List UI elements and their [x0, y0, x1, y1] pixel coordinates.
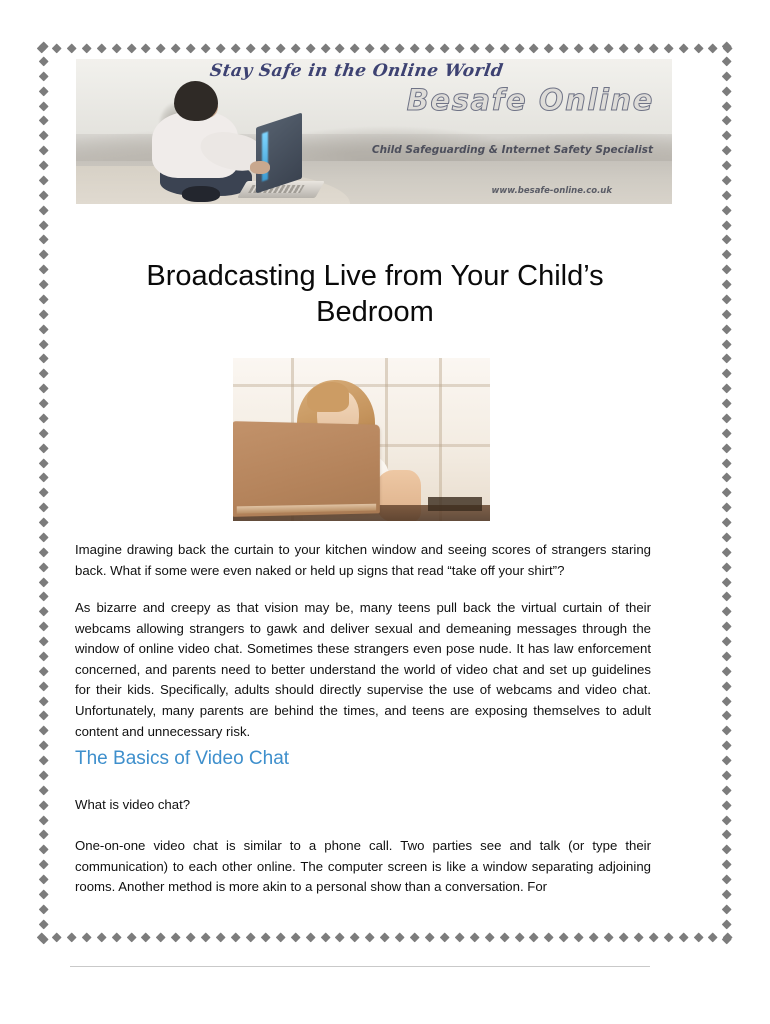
border-diamond: [38, 532, 48, 542]
border-diamond: [126, 932, 136, 942]
border-diamond: [721, 190, 731, 200]
photo-window-mullion: [233, 384, 490, 387]
border-diamond: [721, 220, 731, 230]
photo-laptop: [233, 421, 380, 517]
border-diamond: [141, 43, 151, 53]
border-diamond: [721, 101, 731, 111]
border-diamond: [410, 43, 420, 53]
border-diamond: [38, 71, 48, 81]
border-diamond: [66, 43, 76, 53]
border-diamond: [38, 56, 48, 66]
border-diamond: [721, 324, 731, 334]
border-diamond: [721, 785, 731, 795]
border-diamond: [38, 205, 48, 215]
border-diamond: [38, 354, 48, 364]
border-diamond: [721, 919, 731, 929]
border-diamond: [186, 932, 196, 942]
border-diamond: [395, 43, 405, 53]
border-diamond: [721, 309, 731, 319]
border-diamond: [216, 932, 226, 942]
border-row-bottom: [38, 932, 732, 943]
border-diamond: [245, 932, 255, 942]
border-diamond: [721, 503, 731, 513]
border-diamond: [38, 860, 48, 870]
border-diamond: [439, 43, 449, 53]
border-diamond: [721, 547, 731, 557]
border-diamond: [320, 43, 330, 53]
border-diamond: [721, 800, 731, 810]
border-diamond: [380, 43, 390, 53]
border-diamond: [38, 636, 48, 646]
border-diamond: [618, 932, 628, 942]
border-col-left: [38, 43, 49, 943]
border-diamond: [38, 160, 48, 170]
header-banner-image: Stay Safe in the Online World Besafe Onl…: [76, 59, 672, 204]
border-diamond: [589, 43, 599, 53]
border-diamond: [721, 607, 731, 617]
border-diamond: [290, 932, 300, 942]
border-diamond: [499, 932, 509, 942]
border-diamond: [38, 889, 48, 899]
border-diamond: [38, 116, 48, 126]
border-diamond: [721, 755, 731, 765]
border-diamond: [514, 43, 524, 53]
border-diamond: [721, 235, 731, 245]
border-diamond: [633, 43, 643, 53]
border-diamond: [38, 547, 48, 557]
border-diamond: [230, 43, 240, 53]
border-diamond: [51, 932, 61, 942]
border-diamond: [201, 43, 211, 53]
border-diamond: [38, 696, 48, 706]
border-diamond: [469, 43, 479, 53]
border-diamond: [721, 369, 731, 379]
border-diamond: [38, 369, 48, 379]
border-diamond: [126, 43, 136, 53]
border-diamond: [38, 488, 48, 498]
border-diamond: [38, 726, 48, 736]
border-diamond: [305, 43, 315, 53]
border-diamond: [648, 43, 658, 53]
border-diamond: [38, 443, 48, 453]
border-diamond: [633, 932, 643, 942]
border-diamond: [350, 932, 360, 942]
border-diamond: [723, 43, 733, 53]
border-diamond: [38, 577, 48, 587]
footer-divider: [70, 966, 650, 967]
section-heading-basics-of-video-chat: The Basics of Video Chat: [75, 747, 289, 771]
border-diamond: [38, 101, 48, 111]
border-diamond: [305, 932, 315, 942]
border-diamond: [663, 932, 673, 942]
border-diamond: [38, 622, 48, 632]
border-diamond: [721, 681, 731, 691]
border-diamond: [721, 666, 731, 676]
border-diamond: [424, 43, 434, 53]
banner-boy-illustration: [138, 79, 323, 204]
border-diamond: [38, 845, 48, 855]
border-diamond: [38, 517, 48, 527]
border-diamond: [454, 932, 464, 942]
border-diamond: [484, 43, 494, 53]
border-diamond: [260, 43, 270, 53]
border-diamond: [721, 339, 731, 349]
border-diamond: [111, 932, 121, 942]
border-diamond: [721, 384, 731, 394]
border-diamond: [38, 562, 48, 572]
border-diamond: [574, 43, 584, 53]
border-diamond: [320, 932, 330, 942]
border-diamond: [721, 517, 731, 527]
border-diamond: [721, 532, 731, 542]
border-diamond: [81, 43, 91, 53]
border-diamond: [96, 43, 106, 53]
border-diamond: [38, 190, 48, 200]
border-diamond: [275, 43, 285, 53]
border-diamond: [721, 592, 731, 602]
border-diamond: [38, 458, 48, 468]
border-diamond: [454, 43, 464, 53]
border-diamond: [38, 711, 48, 721]
border-diamond: [81, 932, 91, 942]
border-diamond: [721, 86, 731, 96]
border-diamond: [38, 384, 48, 394]
border-diamond: [693, 43, 703, 53]
border-diamond: [721, 354, 731, 364]
border-diamond: [721, 770, 731, 780]
border-diamond: [38, 785, 48, 795]
boy-shoe: [182, 186, 220, 202]
border-diamond: [38, 175, 48, 185]
border-diamond: [559, 43, 569, 53]
border-diamond: [38, 146, 48, 156]
border-diamond: [38, 41, 48, 51]
border-diamond: [395, 932, 405, 942]
border-diamond: [350, 43, 360, 53]
border-diamond: [721, 443, 731, 453]
border-diamond: [469, 932, 479, 942]
border-diamond: [721, 577, 731, 587]
border-diamond: [38, 681, 48, 691]
border-diamond: [721, 71, 731, 81]
border-diamond: [721, 562, 731, 572]
border-diamond: [38, 934, 48, 944]
border-diamond: [721, 741, 731, 751]
border-diamond: [38, 220, 48, 230]
border-diamond: [693, 932, 703, 942]
border-diamond: [38, 86, 48, 96]
border-diamond: [38, 324, 48, 334]
border-diamond: [678, 43, 688, 53]
border-diamond: [721, 41, 731, 51]
border-diamond: [618, 43, 628, 53]
border-diamond: [156, 43, 166, 53]
border-diamond: [484, 932, 494, 942]
body-paragraph-3-container: What is video chat?: [75, 795, 651, 816]
border-diamond: [721, 845, 731, 855]
border-diamond: [365, 932, 375, 942]
border-diamond: [721, 160, 731, 170]
border-diamond: [141, 932, 151, 942]
border-diamond: [721, 815, 731, 825]
border-diamond: [38, 503, 48, 513]
border-diamond: [559, 932, 569, 942]
body-paragraph-4-container: One-on-one video chat is similar to a ph…: [75, 836, 651, 898]
article-photo: [233, 358, 490, 521]
border-diamond: [721, 398, 731, 408]
border-diamond: [38, 131, 48, 141]
border-diamond: [66, 932, 76, 942]
border-diamond: [365, 43, 375, 53]
border-diamond: [335, 43, 345, 53]
border-diamond: [290, 43, 300, 53]
border-diamond: [38, 800, 48, 810]
banner-brand-title: Besafe Online: [407, 83, 654, 117]
photo-girl-fringe: [307, 382, 349, 412]
border-diamond: [38, 235, 48, 245]
border-diamond: [574, 932, 584, 942]
border-diamond: [216, 43, 226, 53]
border-diamond: [721, 279, 731, 289]
border-diamond: [38, 294, 48, 304]
border-diamond: [529, 932, 539, 942]
border-diamond: [36, 932, 46, 942]
banner-website-url: www.besafe-online.co.uk: [492, 186, 612, 196]
border-diamond: [38, 473, 48, 483]
border-diamond: [111, 43, 121, 53]
page-title: Broadcasting Live from Your Child’s Bedr…: [95, 258, 655, 330]
border-diamond: [439, 932, 449, 942]
border-diamond: [38, 607, 48, 617]
border-diamond: [678, 932, 688, 942]
border-diamond: [38, 651, 48, 661]
photo-book: [428, 497, 482, 511]
border-diamond: [589, 932, 599, 942]
border-diamond: [544, 932, 554, 942]
border-diamond: [721, 413, 731, 423]
border-diamond: [38, 309, 48, 319]
border-diamond: [721, 934, 731, 944]
border-diamond: [721, 874, 731, 884]
border-diamond: [721, 726, 731, 736]
border-diamond: [721, 711, 731, 721]
body-paragraph-1-container: Imagine drawing back the curtain to your…: [75, 540, 651, 581]
border-diamond: [529, 43, 539, 53]
border-diamond: [721, 265, 731, 275]
border-diamond: [38, 428, 48, 438]
border-diamond: [721, 830, 731, 840]
border-col-right: [721, 43, 732, 943]
border-diamond: [171, 932, 181, 942]
border-diamond: [38, 279, 48, 289]
body-paragraph-2-container: As bizarre and creepy as that vision may…: [75, 598, 651, 742]
banner-tagline: Stay Safe in the Online World: [209, 61, 505, 81]
border-diamond: [171, 43, 181, 53]
border-diamond: [245, 43, 255, 53]
border-diamond: [38, 666, 48, 676]
border-diamond: [721, 651, 731, 661]
border-diamond: [604, 932, 614, 942]
border-diamond: [38, 592, 48, 602]
border-diamond: [721, 116, 731, 126]
border-diamond: [51, 43, 61, 53]
border-diamond: [201, 932, 211, 942]
border-diamond: [260, 932, 270, 942]
border-diamond: [38, 413, 48, 423]
border-diamond: [410, 932, 420, 942]
border-diamond: [721, 622, 731, 632]
border-diamond: [38, 755, 48, 765]
border-diamond: [38, 919, 48, 929]
border-diamond: [38, 265, 48, 275]
banner-subtitle: Child Safeguarding & Internet Safety Spe…: [372, 144, 653, 156]
border-diamond: [663, 43, 673, 53]
border-diamond: [38, 904, 48, 914]
border-diamond: [544, 43, 554, 53]
boy-hand: [250, 161, 270, 174]
photo-laptop-edge: [237, 504, 376, 514]
border-diamond: [38, 741, 48, 751]
border-diamond: [514, 932, 524, 942]
border-diamond: [721, 146, 731, 156]
border-diamond: [604, 43, 614, 53]
border-diamond: [721, 175, 731, 185]
border-diamond: [721, 488, 731, 498]
border-diamond: [648, 932, 658, 942]
border-row-top: [38, 43, 732, 54]
border-diamond: [38, 339, 48, 349]
border-diamond: [275, 932, 285, 942]
banner-laptop-screen-glow: [262, 132, 268, 182]
border-diamond: [96, 932, 106, 942]
border-diamond: [721, 473, 731, 483]
border-diamond: [721, 56, 731, 66]
border-diamond: [424, 932, 434, 942]
border-diamond: [186, 43, 196, 53]
border-diamond: [38, 250, 48, 260]
border-diamond: [499, 43, 509, 53]
border-diamond: [721, 205, 731, 215]
body-paragraph-2: As bizarre and creepy as that vision may…: [75, 598, 651, 742]
border-diamond: [721, 428, 731, 438]
boy-head: [174, 81, 218, 121]
border-diamond: [723, 932, 733, 942]
border-diamond: [156, 932, 166, 942]
border-diamond: [38, 815, 48, 825]
border-diamond: [721, 696, 731, 706]
border-diamond: [335, 932, 345, 942]
border-diamond: [721, 458, 731, 468]
border-diamond: [721, 250, 731, 260]
body-paragraph-1: Imagine drawing back the curtain to your…: [75, 540, 651, 581]
border-diamond: [38, 830, 48, 840]
border-diamond: [721, 904, 731, 914]
border-diamond: [721, 636, 731, 646]
border-diamond: [38, 770, 48, 780]
border-diamond: [721, 131, 731, 141]
border-diamond: [708, 43, 718, 53]
border-diamond: [230, 932, 240, 942]
body-paragraph-3: What is video chat?: [75, 795, 651, 816]
border-diamond: [708, 932, 718, 942]
border-diamond: [721, 889, 731, 899]
border-diamond: [721, 860, 731, 870]
border-diamond: [38, 398, 48, 408]
border-diamond: [36, 43, 46, 53]
border-diamond: [721, 294, 731, 304]
border-diamond: [38, 874, 48, 884]
border-diamond: [380, 932, 390, 942]
body-paragraph-4: One-on-one video chat is similar to a ph…: [75, 836, 651, 898]
